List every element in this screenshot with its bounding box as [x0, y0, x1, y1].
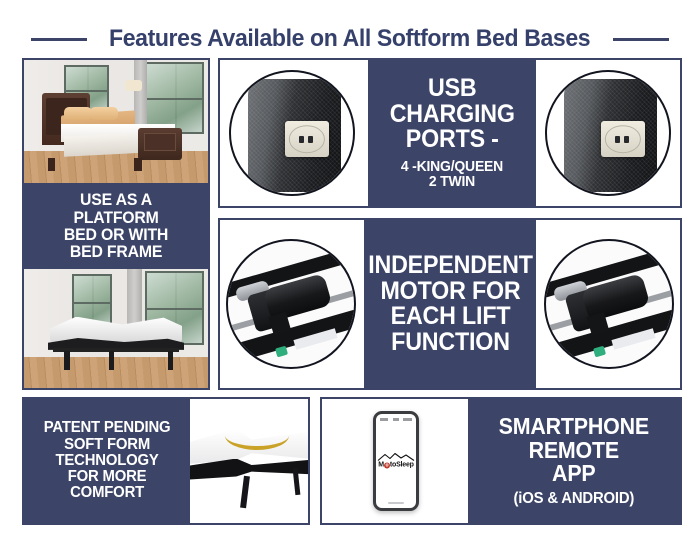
soft-form-panel: PATENT PENDING SOFT FORM TECHNOLOGY FOR …	[22, 397, 310, 525]
caption-line: COMFORT	[44, 485, 171, 501]
bed-leg-right	[134, 158, 141, 170]
usb-port-plate-2	[601, 121, 645, 158]
page-title-row: Features Available on All Softform Bed B…	[0, 22, 700, 56]
gold-contour-arc	[225, 421, 289, 450]
base-leg-3	[168, 351, 174, 370]
circle-crop-left	[229, 70, 355, 196]
usb-charging-panel: USB CHARGING PORTS - 4 -KING/QUEEN 2 TWI…	[218, 58, 682, 208]
caption-line: PORTS -	[389, 127, 514, 153]
caption-line: EACH LIFT	[368, 304, 533, 330]
lift-motor-closeup-right	[538, 220, 680, 388]
independent-motor-panel: INDEPENDENT MOTOR FOR EACH LIFT FUNCTION	[218, 218, 682, 390]
platform-bed-caption-text: USE AS A PLATFORM BED OR WITH BED FRAME	[64, 191, 168, 260]
usb-caption-main: USB CHARGING PORTS -	[389, 76, 514, 153]
phone-status-bar	[380, 417, 412, 421]
lift-motor-closeup-left	[220, 220, 362, 388]
soft-form-caption: PATENT PENDING SOFT FORM TECHNOLOGY FOR …	[24, 399, 190, 523]
circle-crop-motor-left	[226, 239, 356, 369]
green-sticker	[275, 345, 288, 357]
motor-caption-text: INDEPENDENT MOTOR FOR EACH LIFT FUNCTION	[368, 253, 533, 355]
caption-line: USE AS A	[64, 191, 168, 208]
wood-platform-bed-photo	[24, 60, 208, 183]
usb-caption-sub: 4 -KING/QUEEN 2 TWIN	[401, 159, 503, 190]
caption-line: 4 -KING/QUEEN	[401, 159, 503, 174]
pillow-1	[64, 107, 92, 121]
caption-line: MOTOR FOR	[368, 279, 533, 305]
table-lamp	[125, 80, 142, 91]
motosleep-wordmark: MotoSleep	[377, 462, 415, 470]
caption-line: PATENT PENDING	[44, 420, 171, 436]
title-dash-left	[31, 38, 87, 41]
usb-port-closeup-left	[220, 60, 364, 206]
app-caption: SMARTPHONE REMOTE APP (iOS & ANDROID)	[468, 399, 680, 523]
caption-line: FOR MORE	[44, 469, 171, 485]
caption-line: INDEPENDENT	[368, 253, 533, 279]
phone-device: MotoSleep	[373, 411, 419, 511]
base-leg-2	[109, 351, 115, 370]
bed-leg-left	[48, 158, 55, 170]
platform-bed-caption: USE AS A PLATFORM BED OR WITH BED FRAME	[24, 183, 208, 269]
circle-crop-right	[545, 70, 671, 196]
caption-line: PLATFORM	[64, 209, 168, 226]
usb-port-plate	[285, 121, 329, 158]
adjustable-base-photo	[24, 269, 208, 388]
soft-form-leg-1	[240, 476, 250, 509]
caption-line: BED OR WITH	[64, 226, 168, 243]
caption-line: TECHNOLOGY	[44, 453, 171, 469]
app-caption-main: SMARTPHONE REMOTE APP	[499, 415, 649, 485]
motosleep-logo: MotoSleep	[377, 453, 415, 470]
pillow-2	[90, 107, 118, 121]
page-title: Features Available on All Softform Bed B…	[109, 25, 590, 53]
mountain-icon	[377, 453, 415, 462]
smartphone-app-panel: MotoSleep SMARTPHONE REMOTE APP (iOS & A…	[320, 397, 682, 525]
circle-crop-motor-right	[544, 239, 674, 369]
caption-line: APP	[499, 462, 649, 485]
caption-line: CHARGING	[389, 102, 514, 128]
caption-line: BED FRAME	[64, 243, 168, 260]
smartphone-photo: MotoSleep	[322, 399, 470, 523]
app-caption-sub: (iOS & ANDROID)	[514, 491, 635, 507]
caption-line: FUNCTION	[368, 330, 533, 356]
phone-home-indicator	[388, 502, 404, 504]
base-rail	[53, 348, 178, 353]
soft-form-mattress-photo	[190, 399, 308, 523]
motor-caption: INDEPENDENT MOTOR FOR EACH LIFT FUNCTION	[364, 220, 536, 388]
caption-line: 2 TWIN	[401, 174, 503, 189]
infographic-page: Features Available on All Softform Bed B…	[0, 0, 700, 545]
usb-port-closeup-right	[536, 60, 680, 206]
usb-caption: USB CHARGING PORTS - 4 -KING/QUEEN 2 TWI…	[368, 60, 536, 206]
green-sticker-2	[593, 345, 606, 357]
soft-form-caption-text: PATENT PENDING SOFT FORM TECHNOLOGY FOR …	[44, 420, 171, 502]
caption-line: SOFT FORM	[44, 437, 171, 453]
footboard	[138, 128, 182, 160]
base-leg-1	[64, 351, 70, 370]
caption-line: USB	[389, 76, 514, 102]
platform-bed-panel: USE AS A PLATFORM BED OR WITH BED FRAME	[22, 58, 210, 390]
title-dash-right	[613, 38, 669, 41]
wood-floor-2	[24, 357, 208, 388]
caption-line: REMOTE	[499, 439, 649, 462]
caption-line: SMARTPHONE	[499, 415, 649, 438]
logo-suffix: toSleep	[390, 462, 414, 469]
